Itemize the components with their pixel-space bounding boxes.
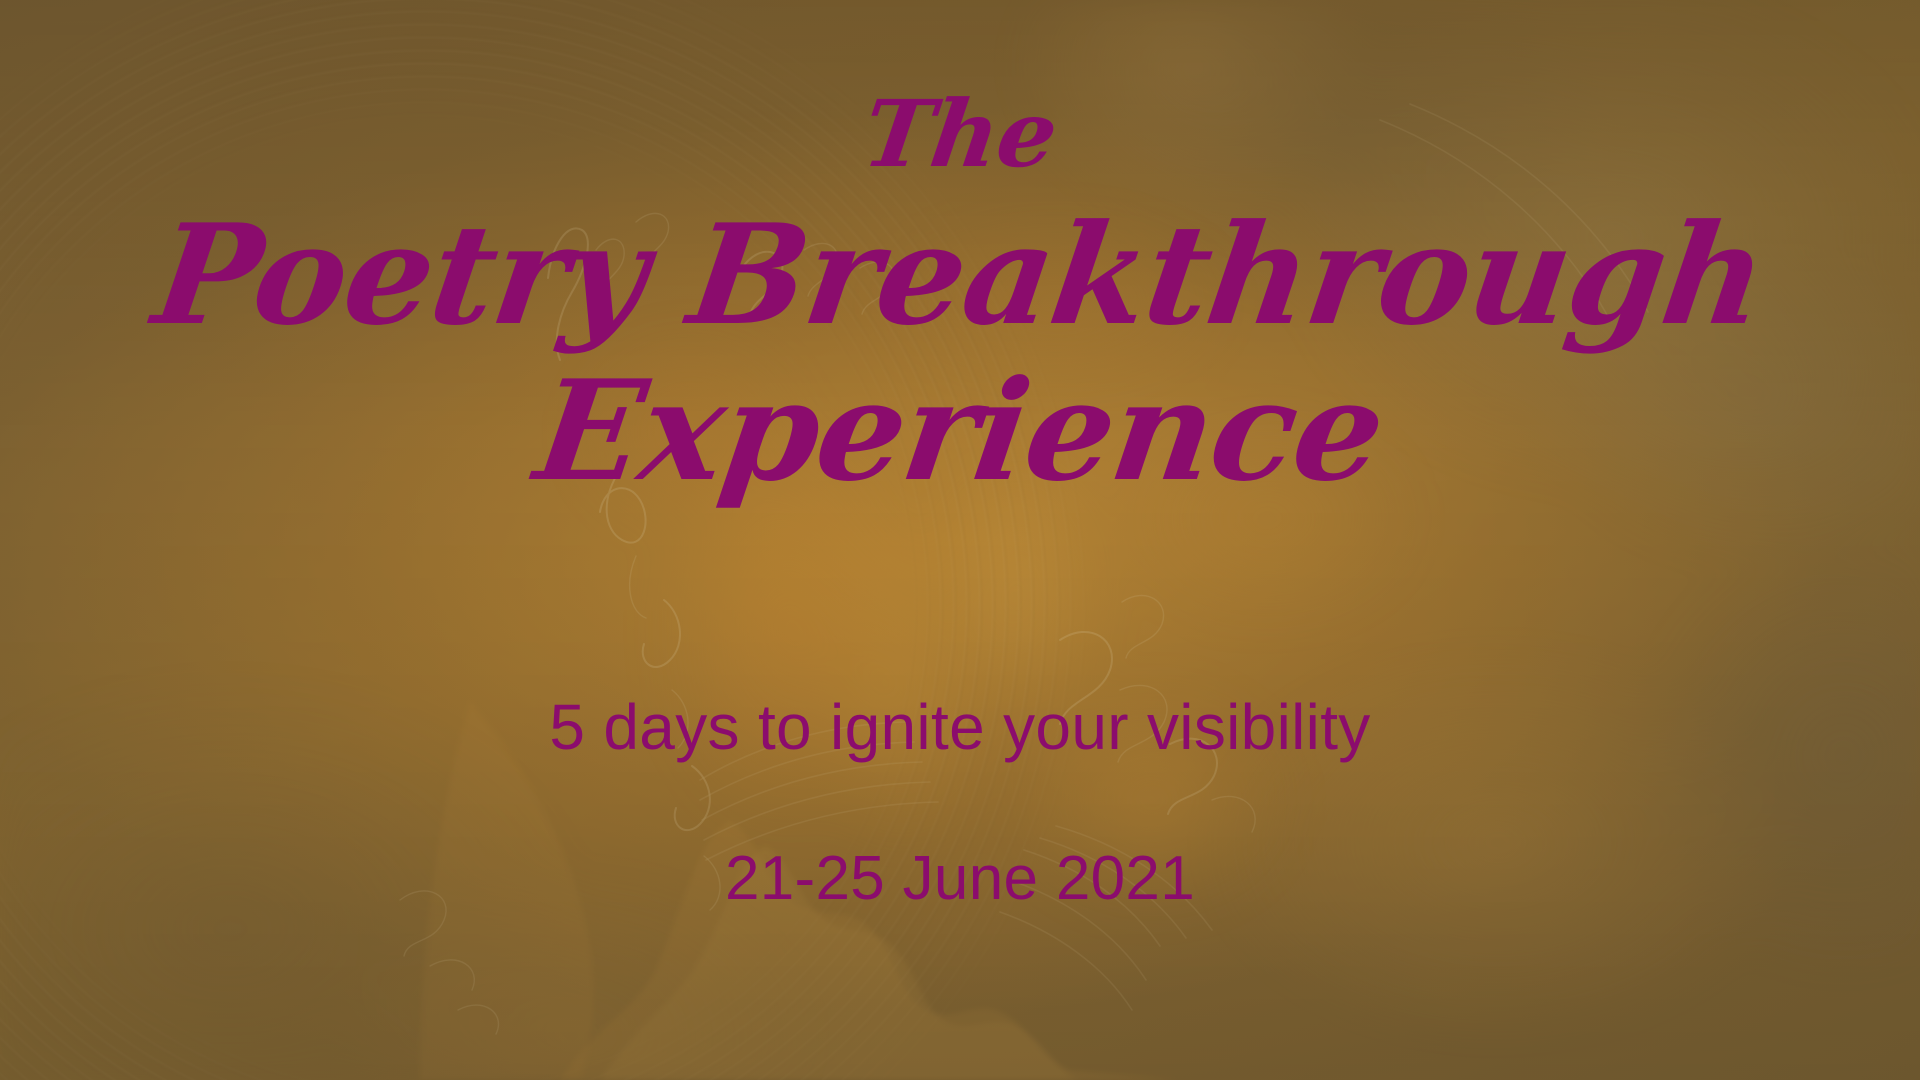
title-line-experience: Experience <box>0 368 1920 495</box>
title-line-poetry-breakthrough: Poetry Breakthrough <box>0 212 1920 339</box>
promo-banner: The Poetry Breakthrough Experience 5 day… <box>0 0 1920 1080</box>
event-dates: 21-25 June 2021 <box>0 843 1920 914</box>
banner-subtitle: 5 days to ignite your visibility <box>0 690 1920 764</box>
title-line-the: The <box>0 92 1920 177</box>
banner-content: The Poetry Breakthrough Experience 5 day… <box>0 0 1920 1080</box>
